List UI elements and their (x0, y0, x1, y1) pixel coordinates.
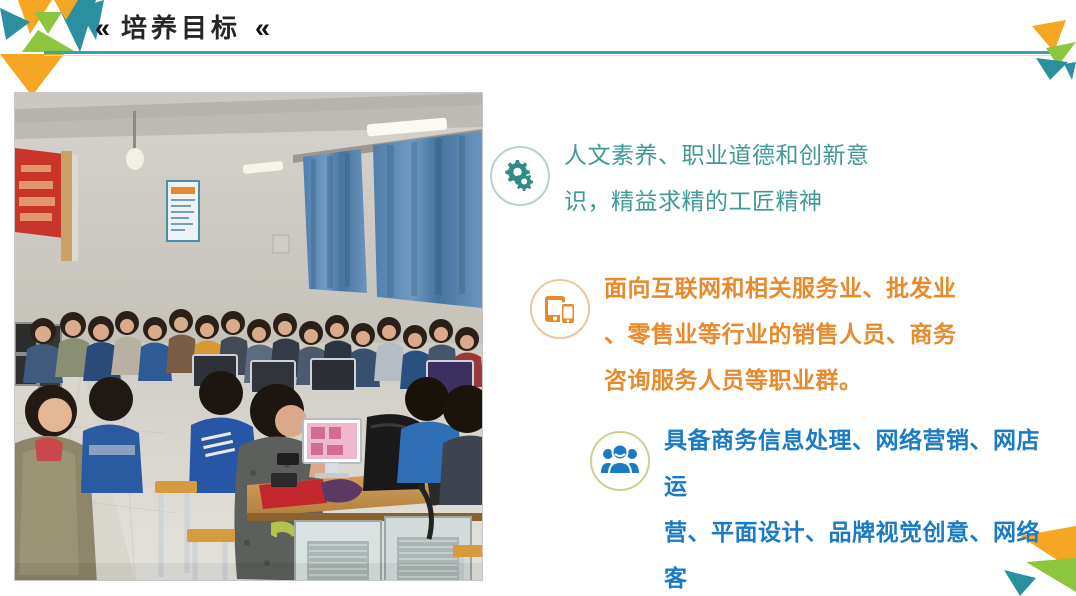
bullet-item-2: 面向互联网和相关服务业、批发业 、零售业等行业的销售人员、商务 咨询服务人员等职… (530, 265, 978, 403)
header-divider (44, 51, 1066, 54)
header-divider-secondary (44, 55, 1066, 56)
bullet-text-1: 人文素养、职业道德和创新意 识，精益求精的工匠精神 (564, 132, 870, 224)
devices-icon (530, 279, 590, 339)
page-title: « 培养目标 « (95, 8, 267, 48)
page-title-text: 培养目标 (121, 15, 241, 41)
bullet-item-3: 具备商务信息处理、网络营销、网店运 营、平面设计、品牌视觉创意、网络客 户服务与… (590, 417, 1060, 596)
slide-root: « 培养目标 « (0, 0, 1076, 596)
bullet-3-line-1: 具备商务信息处理、网络营销、网店运 (664, 417, 1060, 509)
bullet-list: 人文素养、职业道德和创新意 识，精益求精的工匠精神 面向互联网和相关服务业、批发… (480, 120, 1076, 590)
bullet-1-line-1: 人文素养、职业道德和创新意 (564, 132, 870, 178)
bullet-text-2: 面向互联网和相关服务业、批发业 、零售业等行业的销售人员、商务 咨询服务人员等职… (604, 265, 957, 403)
bullet-text-3: 具备商务信息处理、网络营销、网店运 营、平面设计、品牌视觉创意、网络客 户服务与… (664, 417, 1060, 596)
bullet-3-line-2: 营、平面设计、品牌视觉创意、网络客 (664, 509, 1060, 596)
people-group-icon (590, 431, 650, 491)
bullet-2-line-1: 面向互联网和相关服务业、批发业 (604, 265, 957, 311)
slide-header: « 培养目标 « (0, 0, 1076, 58)
classroom-photo-image (15, 93, 482, 580)
bullet-item-1: 人文素养、职业道德和创新意 识，精益求精的工匠精神 (490, 132, 890, 224)
bullet-2-line-3: 咨询服务人员等职业群。 (604, 357, 957, 403)
top-right-decoration-icon (1006, 18, 1076, 88)
bullet-1-line-2: 识，精益求精的工匠精神 (564, 178, 870, 224)
gears-icon (490, 146, 550, 206)
chevron-left-icon: « (95, 15, 107, 42)
chevron-right-icon: « (255, 15, 267, 42)
bullet-2-line-2: 、零售业等行业的销售人员、商务 (604, 311, 957, 357)
classroom-photo (14, 92, 483, 581)
